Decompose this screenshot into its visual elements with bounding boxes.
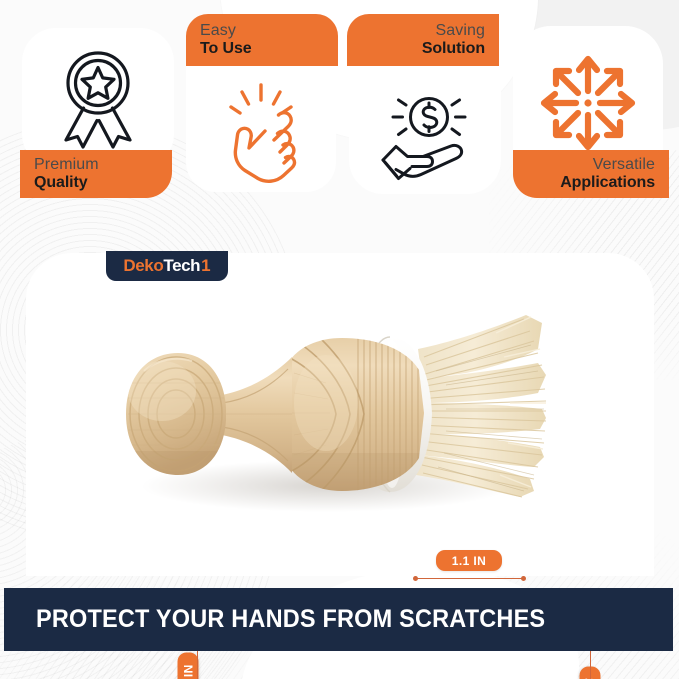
feature-card-saving-solution-top-line: Saving [435,22,485,40]
feature-cards-row: Premium Quality Easy To U [0,0,679,205]
brush-knob-handle [124,353,228,481]
dimension-endpoint-1-1-in-left [413,576,418,581]
infographic-canvas: Premium Quality Easy To U [0,0,679,679]
brush-bristles [416,315,546,497]
bamboo-dish-brush-image [26,253,654,576]
hand-holding-dollar-coin-icon [349,86,501,190]
feature-card-saving-solution-band: Saving Solution [347,14,499,66]
feature-card-premium-quality-bottom-line: Quality [34,174,158,192]
product-panel: DekoTech1 [26,253,654,576]
bottom-banner: PROTECT YOUR HANDS FROM SCRATCHES [4,588,673,651]
feature-card-saving-solution-bottom-line: Solution [422,40,485,58]
feature-card-versatile-applications-band: Versatile Applications [513,150,669,198]
eight-direction-arrows-icon [513,48,663,158]
dimension-label-1-8-in: 1.8 IN [178,653,199,679]
feature-card-versatile-applications-top-line: Versatile [593,156,655,174]
feature-card-premium-quality-top-line: Premium [34,156,158,174]
feature-card-easy-to-use-bottom-line: To Use [200,40,324,58]
dimension-label-1-1-in: 1.1 IN [436,550,502,571]
feature-card-easy-to-use-band: Easy To Use [186,14,338,66]
feature-card-versatile-applications-bottom-line: Applications [560,174,655,192]
award-ribbon-icon [22,46,174,154]
banner-headline: PROTECT YOUR HANDS FROM SCRATCHES [36,605,545,634]
feature-card-easy-to-use-top-line: Easy [200,22,324,40]
feature-card-premium-quality [22,28,174,168]
brush-neck [222,357,292,473]
feature-card-premium-quality-band: Premium Quality [20,150,172,198]
dimension-line-1-1-in [415,578,525,579]
dimension-endpoint-1-1-in-right [521,576,526,581]
feature-card-versatile-applications [513,26,663,168]
tapping-hand-icon [186,80,336,186]
